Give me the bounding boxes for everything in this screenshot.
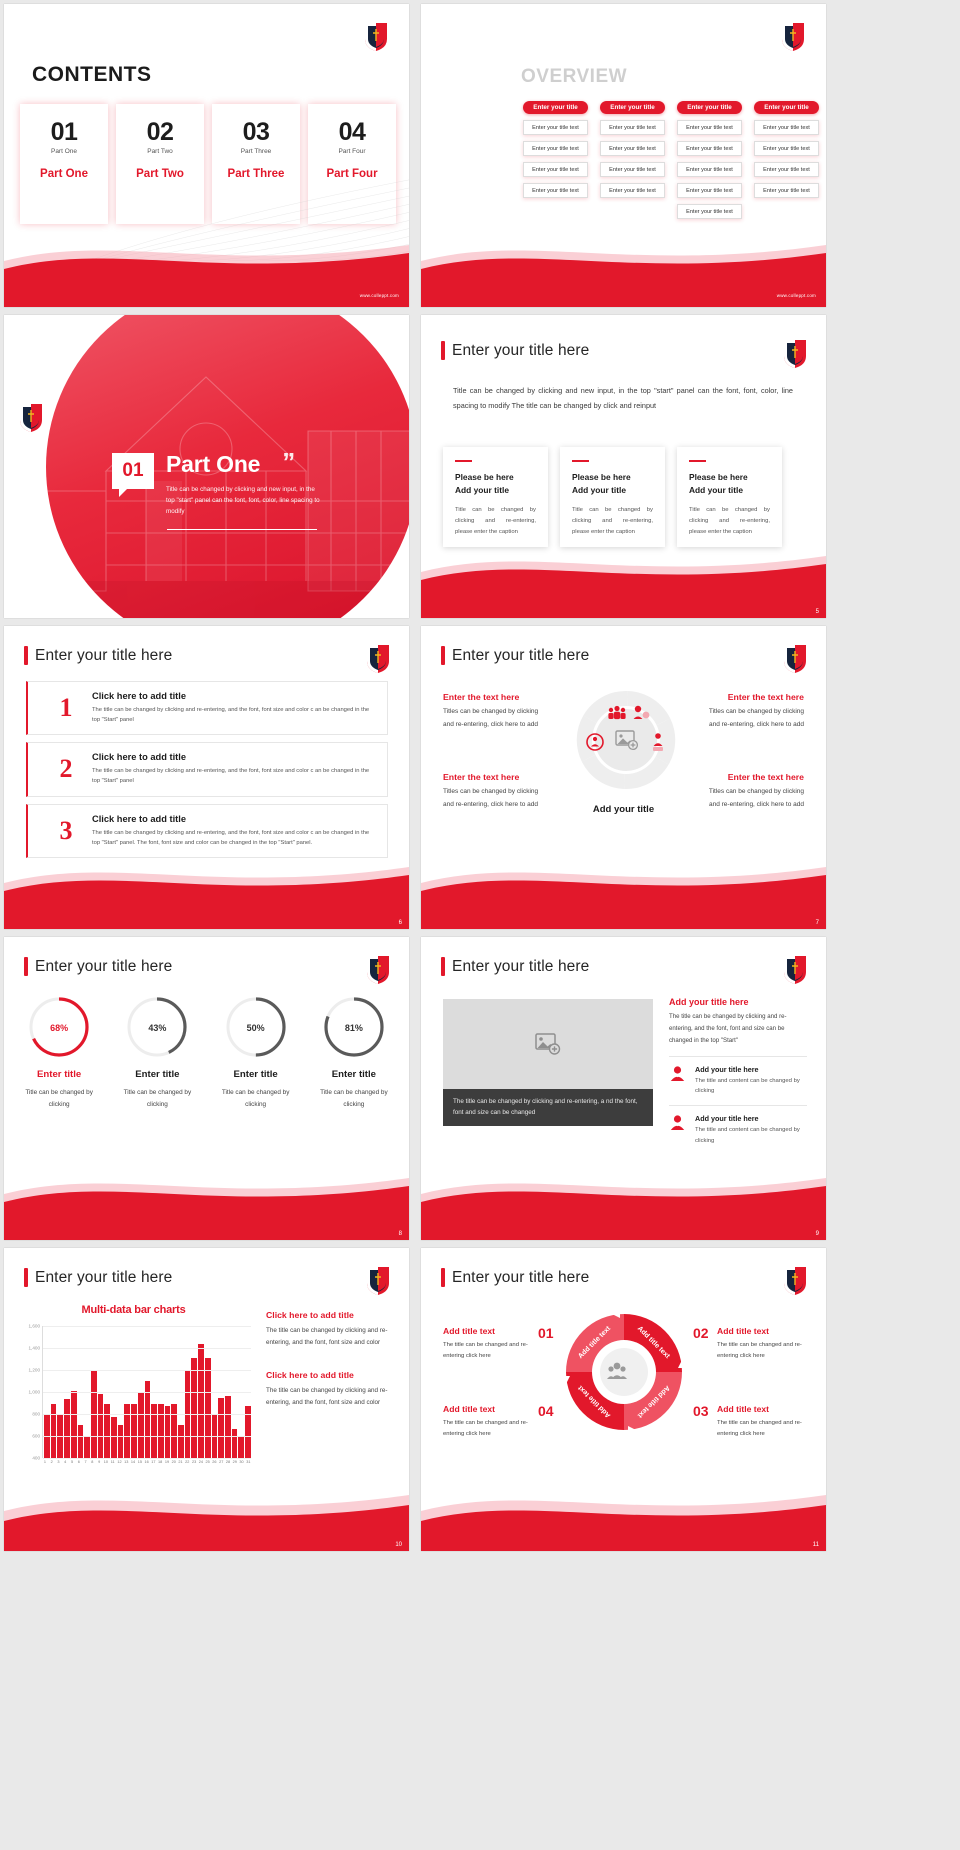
column-header-pill[interactable]: Enter your title bbox=[600, 101, 665, 114]
chart-bar bbox=[205, 1358, 211, 1458]
card-heading: Please be here bbox=[689, 471, 770, 483]
card-subtitle: Part One bbox=[51, 148, 77, 155]
step-number: 03 bbox=[693, 1403, 709, 1419]
card-subtitle: Part Two bbox=[147, 148, 173, 155]
chart-y-tick: 1,600 bbox=[29, 1324, 41, 1329]
chart-y-tick: 1,000 bbox=[29, 1390, 41, 1395]
overview-cell[interactable]: Enter your title text bbox=[677, 120, 742, 135]
card-subtitle: Part Four bbox=[338, 148, 365, 155]
slide-donut-percentages[interactable]: Enter your title here 68% bbox=[4, 937, 409, 1240]
card-subheading: Add your title bbox=[572, 484, 653, 496]
card-heading: Please be here bbox=[572, 471, 653, 483]
card-subheading: Add your title bbox=[689, 484, 770, 496]
donut-item[interactable]: 81% Enter title Title can be changed by … bbox=[305, 995, 403, 1111]
chart-bar bbox=[232, 1429, 238, 1458]
overview-cell[interactable]: Enter your title text bbox=[677, 162, 742, 177]
donut-unit: % bbox=[257, 1023, 265, 1033]
overview-cell[interactable]: Enter your title text bbox=[523, 162, 588, 177]
step-body: The title can be changed and re-entering… bbox=[717, 1418, 821, 1439]
overview-cell[interactable]: Enter your title text bbox=[523, 120, 588, 135]
card-body: Title can be changed by clicking and re-… bbox=[572, 505, 653, 538]
quote-mark-icon: ” bbox=[282, 453, 295, 471]
shield-icon bbox=[365, 955, 391, 985]
university-logo bbox=[782, 339, 808, 369]
bar-chart: Multi-data bar charts 1,6001,4001,2001,0… bbox=[16, 1304, 251, 1504]
shield-icon bbox=[782, 644, 808, 674]
section-body: The title can be changed by clicking and… bbox=[669, 1011, 807, 1047]
chart-gridline bbox=[43, 1458, 251, 1459]
overview-cell[interactable]: Enter your title text bbox=[600, 162, 665, 177]
list-item[interactable]: 3 Click here to add title The title can … bbox=[26, 804, 388, 858]
row-heading: Click here to add title bbox=[92, 691, 375, 701]
list-item[interactable]: 2 Click here to add title The title can … bbox=[26, 742, 388, 796]
item-heading: Add your title here bbox=[695, 1114, 807, 1123]
chart-x-tick: 5 bbox=[69, 1460, 75, 1464]
overview-cell[interactable]: Enter your title text bbox=[677, 204, 742, 219]
chart-x-tick: 10 bbox=[103, 1460, 109, 1464]
page-number: 5 bbox=[816, 609, 819, 615]
card-accent-dash bbox=[572, 460, 589, 462]
chart-y-tick: 600 bbox=[32, 1434, 40, 1439]
part-description: Title can be changed by clicking and new… bbox=[166, 484, 321, 517]
chart-title: Multi-data bar charts bbox=[16, 1304, 251, 1316]
university-logo bbox=[363, 22, 389, 52]
overview-cell[interactable]: Enter your title text bbox=[754, 183, 819, 198]
card-subtitle: Part Three bbox=[241, 148, 272, 155]
card-body: Title can be changed by clicking and re-… bbox=[455, 505, 536, 538]
card-accent-dash bbox=[689, 460, 706, 462]
row-number: 2 bbox=[40, 756, 92, 782]
slide-deck-grid: CONTENTS 01 Part One Part One 02 Part Tw… bbox=[0, 0, 960, 1850]
chart-bar bbox=[238, 1437, 244, 1458]
wave-decoration bbox=[421, 849, 826, 929]
page-number: 4 bbox=[399, 609, 402, 615]
chart-bar bbox=[71, 1391, 77, 1458]
title-accent-bar bbox=[441, 341, 445, 360]
donut-value: 43% bbox=[125, 1018, 189, 1036]
donut-number: 50 bbox=[247, 1023, 257, 1033]
donut-number: 81 bbox=[345, 1023, 355, 1033]
slide-title-text: Enter your title here bbox=[452, 1269, 589, 1287]
image-placeholder-icon bbox=[535, 1033, 561, 1055]
slide-three-cards[interactable]: Enter your title here Title can be chang… bbox=[421, 315, 826, 618]
intro-paragraph: Title can be changed by clicking and new… bbox=[453, 383, 793, 414]
overview-cell[interactable]: Enter your title text bbox=[523, 141, 588, 156]
divider-rule bbox=[167, 529, 317, 530]
mesh-decoration bbox=[94, 171, 409, 261]
chart-x-tick: 25 bbox=[205, 1460, 211, 1464]
item-heading: Add your title here bbox=[695, 1065, 807, 1074]
block-body: The title can be changed by clicking and… bbox=[266, 1385, 392, 1410]
chart-gridline bbox=[43, 1436, 251, 1437]
wave-decoration bbox=[421, 227, 826, 307]
card-body: Title can be changed by clicking and re-… bbox=[689, 505, 770, 538]
chart-bar bbox=[191, 1358, 197, 1458]
university-logo bbox=[365, 955, 391, 985]
slide-part-one-cover[interactable]: 01 Part One ” Title can be changed by cl… bbox=[4, 315, 409, 618]
wave-decoration bbox=[421, 1471, 826, 1551]
person-icon bbox=[669, 1065, 687, 1087]
overview-cell[interactable]: Enter your title text bbox=[600, 183, 665, 198]
step-heading: Add title text bbox=[717, 1326, 821, 1336]
overview-column: Enter your title Enter your title text E… bbox=[754, 101, 819, 219]
slide-title-text: Enter your title here bbox=[35, 1269, 172, 1287]
image-caption: The title can be changed by clicking and… bbox=[443, 1089, 653, 1126]
slide-title: Enter your title here bbox=[24, 957, 172, 976]
chart-bar bbox=[158, 1404, 164, 1458]
chart-bar bbox=[64, 1399, 70, 1458]
cycle-arrow-diagram[interactable]: Add title text Add title text Add title … bbox=[560, 1308, 688, 1436]
donut-value: 50% bbox=[224, 1018, 288, 1036]
chart-gridline bbox=[43, 1414, 251, 1415]
overview-cell[interactable]: Enter your title text bbox=[677, 183, 742, 198]
right-text-column: Click here to add title The title can be… bbox=[266, 1310, 392, 1409]
site-url: www.colleppt.com bbox=[360, 293, 399, 298]
page-title: CONTENTS bbox=[32, 63, 152, 87]
chart-y-tick: 1,400 bbox=[29, 1346, 41, 1351]
chart-gridline bbox=[43, 1370, 251, 1371]
wave-decoration bbox=[421, 538, 826, 618]
slide-bar-chart[interactable]: Enter your title here Multi-data bar cha… bbox=[4, 1248, 409, 1551]
chart-x-tick: 28 bbox=[225, 1460, 231, 1464]
label-heading: Enter the text here bbox=[443, 772, 539, 782]
donut-number: 43 bbox=[148, 1023, 158, 1033]
donut-label: Enter title bbox=[37, 1069, 81, 1080]
chart-x-tick: 17 bbox=[151, 1460, 157, 1464]
chart-bar bbox=[111, 1417, 117, 1458]
chart-y-tick: 1,200 bbox=[29, 1368, 41, 1373]
donut-unit: % bbox=[158, 1023, 166, 1033]
chart-bar bbox=[131, 1404, 137, 1458]
page-number: 6 bbox=[399, 920, 402, 926]
overview-column: Enter your title Enter your title text E… bbox=[523, 101, 588, 219]
info-card[interactable]: Please be here Add your title Title can … bbox=[560, 447, 665, 547]
overview-cell[interactable]: Enter your title text bbox=[600, 141, 665, 156]
chart-bar bbox=[198, 1344, 204, 1458]
step-label-04: Add title text The title can be changed … bbox=[443, 1404, 547, 1439]
title-accent-bar bbox=[24, 1268, 28, 1287]
chart-bar bbox=[151, 1404, 157, 1458]
section-heading: Add your title here bbox=[669, 997, 807, 1007]
label-heading: Enter the text here bbox=[708, 772, 804, 782]
donut-label: Enter title bbox=[332, 1069, 376, 1080]
slide-title-text: Enter your title here bbox=[452, 342, 589, 360]
shield-icon bbox=[780, 22, 806, 52]
step-body: The title can be changed and re-entering… bbox=[443, 1340, 547, 1361]
chart-bar bbox=[78, 1425, 84, 1458]
page-number: 11 bbox=[813, 1542, 819, 1548]
shield-icon bbox=[363, 22, 389, 52]
page-title: OVERVIEW bbox=[521, 66, 627, 88]
diagram-label-top-right: Enter the text here Titles can be change… bbox=[708, 692, 804, 731]
university-logo bbox=[782, 1266, 808, 1296]
card-number: 02 bbox=[147, 120, 174, 145]
chart-x-tick: 30 bbox=[239, 1460, 245, 1464]
overview-cell[interactable]: Enter your title text bbox=[754, 120, 819, 135]
block-body: The title can be changed by clicking and… bbox=[266, 1325, 392, 1350]
donut-label: Enter title bbox=[234, 1069, 278, 1080]
card-number: 03 bbox=[243, 120, 270, 145]
diagram-label-top-left: Enter the text here Titles can be change… bbox=[443, 692, 539, 731]
chart-gridline bbox=[43, 1392, 251, 1393]
chart-x-tick: 4 bbox=[62, 1460, 68, 1464]
list-item[interactable]: Add your title here The title and conten… bbox=[669, 1105, 807, 1146]
slide-title-text: Enter your title here bbox=[35, 647, 172, 665]
chart-x-tick: 8 bbox=[89, 1460, 95, 1464]
row-body: The title can be changed by clicking and… bbox=[92, 705, 375, 725]
label-heading: Enter the text here bbox=[443, 692, 539, 702]
overview-cell[interactable]: Enter your title text bbox=[600, 120, 665, 135]
slide-title: Enter your title here bbox=[441, 1268, 589, 1287]
overview-column: Enter your title Enter your title text E… bbox=[677, 101, 742, 219]
chart-bar bbox=[225, 1396, 231, 1458]
chart-bar bbox=[84, 1436, 90, 1458]
chart-bar bbox=[51, 1404, 57, 1458]
step-label-02: Add title text The title can be changed … bbox=[717, 1326, 821, 1361]
donut-item[interactable]: 43% Enter title Title can be changed by … bbox=[108, 995, 206, 1111]
donut-caption: Title can be changed by clicking bbox=[18, 1087, 100, 1111]
university-logo bbox=[780, 22, 806, 52]
numbered-row-list: 1 Click here to add title The title can … bbox=[26, 681, 388, 858]
card-subheading: Add your title bbox=[455, 484, 536, 496]
university-logo bbox=[365, 644, 391, 674]
donut-item[interactable]: 68% Enter title Title can be changed by … bbox=[10, 995, 108, 1111]
circle-segment-diagram[interactable] bbox=[574, 688, 678, 792]
diagram-center-label: Add your title bbox=[421, 804, 826, 815]
chart-x-tick: 24 bbox=[198, 1460, 204, 1464]
chart-bar bbox=[138, 1393, 144, 1458]
chart-x-tick: 22 bbox=[184, 1460, 190, 1464]
chart-x-tick: 31 bbox=[245, 1460, 251, 1464]
chart-x-tick: 18 bbox=[157, 1460, 163, 1464]
chart-bar bbox=[171, 1404, 177, 1458]
info-card[interactable]: Please be here Add your title Title can … bbox=[677, 447, 782, 547]
shield-icon bbox=[782, 339, 808, 369]
part-number-badge: 01 bbox=[112, 453, 154, 489]
row-number: 3 bbox=[40, 818, 92, 844]
page-number: 7 bbox=[816, 920, 819, 926]
chart-bar bbox=[98, 1394, 104, 1458]
university-logo bbox=[782, 644, 808, 674]
slide-title: Enter your title here bbox=[24, 646, 172, 665]
card-label: Part One bbox=[40, 168, 88, 180]
chart-gridline bbox=[43, 1348, 251, 1349]
shield-icon bbox=[782, 955, 808, 985]
step-heading: Add title text bbox=[443, 1326, 547, 1336]
chart-x-tick: 14 bbox=[130, 1460, 136, 1464]
shield-icon bbox=[365, 644, 391, 674]
part-title: Part One bbox=[166, 453, 260, 476]
chart-x-tick: 20 bbox=[171, 1460, 177, 1464]
row-number: 1 bbox=[40, 695, 92, 721]
university-logo bbox=[365, 1266, 391, 1296]
donut-chart-group: 68% Enter title Title can be changed by … bbox=[10, 995, 403, 1111]
slide-title: Enter your title here bbox=[441, 957, 589, 976]
donut-caption: Title can be changed by clicking bbox=[215, 1087, 297, 1111]
slide-contents[interactable]: CONTENTS 01 Part One Part One 02 Part Tw… bbox=[4, 4, 409, 307]
slide-title-text: Enter your title here bbox=[452, 958, 589, 976]
column-header-pill[interactable]: Enter your title bbox=[677, 101, 742, 114]
slide-title: Enter your title here bbox=[24, 1268, 172, 1287]
chart-x-tick: 26 bbox=[212, 1460, 218, 1464]
chart-x-tick: 9 bbox=[96, 1460, 102, 1464]
chart-x-tick: 15 bbox=[137, 1460, 143, 1464]
slide-title-text: Enter your title here bbox=[452, 647, 589, 665]
person-icon bbox=[669, 1114, 687, 1136]
row-heading: Click here to add title bbox=[92, 752, 375, 762]
overview-column: Enter your title Enter your title text E… bbox=[600, 101, 665, 219]
label-heading: Enter the text here bbox=[708, 692, 804, 702]
chart-x-tick: 1 bbox=[42, 1460, 48, 1464]
info-card[interactable]: Please be here Add your title Title can … bbox=[443, 447, 548, 547]
chart-x-tick: 16 bbox=[144, 1460, 150, 1464]
chart-x-tick: 19 bbox=[164, 1460, 170, 1464]
title-accent-bar bbox=[24, 646, 28, 665]
chart-y-tick: 400 bbox=[32, 1456, 40, 1461]
row-body: The title can be changed by clicking and… bbox=[92, 828, 375, 848]
wave-decoration bbox=[421, 1160, 826, 1240]
card-number: 04 bbox=[339, 120, 366, 145]
shield-icon bbox=[782, 1266, 808, 1296]
list-item[interactable]: Add your title here The title and conten… bbox=[669, 1056, 807, 1097]
chart-x-axis: 1234567891011121314151617181920212223242… bbox=[42, 1460, 251, 1464]
slide-cycle-process[interactable]: Enter your title here bbox=[421, 1248, 826, 1551]
title-accent-bar bbox=[441, 1268, 445, 1287]
donut-value: 81% bbox=[322, 1018, 386, 1036]
step-heading: Add title text bbox=[717, 1404, 821, 1414]
shield-icon bbox=[18, 403, 44, 433]
donut-caption: Title can be changed by clicking bbox=[313, 1087, 395, 1111]
chart-x-tick: 6 bbox=[76, 1460, 82, 1464]
university-logo bbox=[782, 955, 808, 985]
chart-bar bbox=[124, 1404, 130, 1458]
chart-x-tick: 11 bbox=[110, 1460, 116, 1464]
donut-unit: % bbox=[355, 1023, 363, 1033]
chart-x-tick: 12 bbox=[117, 1460, 123, 1464]
slide-circle-icons[interactable]: Enter your title here Enter the text her… bbox=[421, 626, 826, 929]
item-body: The title and content can be changed by … bbox=[695, 1076, 807, 1097]
chart-x-tick: 23 bbox=[191, 1460, 197, 1464]
step-number: 02 bbox=[693, 1325, 709, 1341]
chart-x-tick: 7 bbox=[83, 1460, 89, 1464]
wave-decoration bbox=[4, 849, 409, 929]
card-list: Please be here Add your title Title can … bbox=[443, 447, 782, 547]
overview-cell[interactable]: Enter your title text bbox=[677, 141, 742, 156]
column-header-pill[interactable]: Enter your title bbox=[754, 101, 819, 114]
card-number: 01 bbox=[51, 120, 78, 145]
step-label-03: Add title text The title can be changed … bbox=[717, 1404, 821, 1439]
cover-heading-block: 01 Part One ” Title can be changed by cl… bbox=[112, 453, 321, 517]
item-body: The title and content can be changed by … bbox=[695, 1125, 807, 1146]
row-body: The title can be changed by clicking and… bbox=[92, 766, 375, 786]
image-placeholder[interactable] bbox=[443, 999, 653, 1089]
slide-title: Enter your title here bbox=[441, 341, 589, 360]
column-header-pill[interactable]: Enter your title bbox=[523, 101, 588, 114]
donut-label: Enter title bbox=[135, 1069, 179, 1080]
wave-decoration bbox=[4, 1160, 409, 1240]
title-accent-bar bbox=[441, 957, 445, 976]
donut-value: 68% bbox=[27, 1018, 91, 1036]
slide-title: Enter your title here bbox=[441, 646, 589, 665]
block-heading: Click here to add title bbox=[266, 1370, 392, 1380]
chart-x-tick: 13 bbox=[123, 1460, 129, 1464]
step-body: The title can be changed and re-entering… bbox=[717, 1340, 821, 1361]
overview-columns: Enter your title Enter your title text E… bbox=[523, 101, 819, 219]
list-item[interactable]: 1 Click here to add title The title can … bbox=[26, 681, 388, 735]
overview-cell[interactable]: Enter your title text bbox=[754, 162, 819, 177]
chart-bar bbox=[104, 1404, 110, 1458]
chart-plot-area: 1,6001,4001,2001,000800600400 bbox=[42, 1326, 251, 1458]
chart-bar bbox=[218, 1398, 224, 1459]
label-body: Titles can be changed by clicking and re… bbox=[443, 706, 539, 731]
donut-unit: % bbox=[60, 1023, 68, 1033]
row-heading: Click here to add title bbox=[92, 814, 375, 824]
slide-overview[interactable]: OVERVIEW Enter your title Enter your tit… bbox=[421, 4, 826, 307]
card-heading: Please be here bbox=[455, 471, 536, 483]
right-column: Add your title here The title can be cha… bbox=[669, 997, 807, 1146]
chart-x-tick: 27 bbox=[218, 1460, 224, 1464]
step-body: The title can be changed and re-entering… bbox=[443, 1418, 547, 1439]
block-heading: Click here to add title bbox=[266, 1310, 392, 1320]
shield-icon bbox=[365, 1266, 391, 1296]
title-accent-bar bbox=[441, 646, 445, 665]
chart-bar bbox=[118, 1425, 124, 1458]
overview-cell[interactable]: Enter your title text bbox=[754, 141, 819, 156]
page-number: 10 bbox=[395, 1542, 402, 1548]
chart-bar bbox=[178, 1425, 184, 1458]
chart-x-tick: 29 bbox=[232, 1460, 238, 1464]
step-heading: Add title text bbox=[443, 1404, 547, 1414]
page-number: 8 bbox=[399, 1231, 402, 1237]
page-number: 9 bbox=[816, 1231, 819, 1237]
chart-x-tick: 2 bbox=[49, 1460, 55, 1464]
donut-caption: Title can be changed by clicking bbox=[116, 1087, 198, 1111]
site-url: www.colleppt.com bbox=[777, 293, 816, 298]
slide-numbered-list[interactable]: Enter your title here 1 Click here to ad… bbox=[4, 626, 409, 929]
chart-x-tick: 3 bbox=[56, 1460, 62, 1464]
step-label-01: Add title text The title can be changed … bbox=[443, 1326, 547, 1361]
chart-x-tick: 21 bbox=[178, 1460, 184, 1464]
donut-item[interactable]: 50% Enter title Title can be changed by … bbox=[207, 995, 305, 1111]
university-logo bbox=[18, 403, 44, 433]
card-accent-dash bbox=[455, 460, 472, 462]
chart-y-tick: 800 bbox=[32, 1412, 40, 1417]
chart-gridline bbox=[43, 1326, 251, 1327]
title-accent-bar bbox=[24, 957, 28, 976]
overview-cell[interactable]: Enter your title text bbox=[523, 183, 588, 198]
donut-number: 68 bbox=[50, 1023, 60, 1033]
label-body: Titles can be changed by clicking and re… bbox=[708, 706, 804, 731]
slide-image-list[interactable]: Enter your title here The title can be c… bbox=[421, 937, 826, 1240]
slide-title-text: Enter your title here bbox=[35, 958, 172, 976]
